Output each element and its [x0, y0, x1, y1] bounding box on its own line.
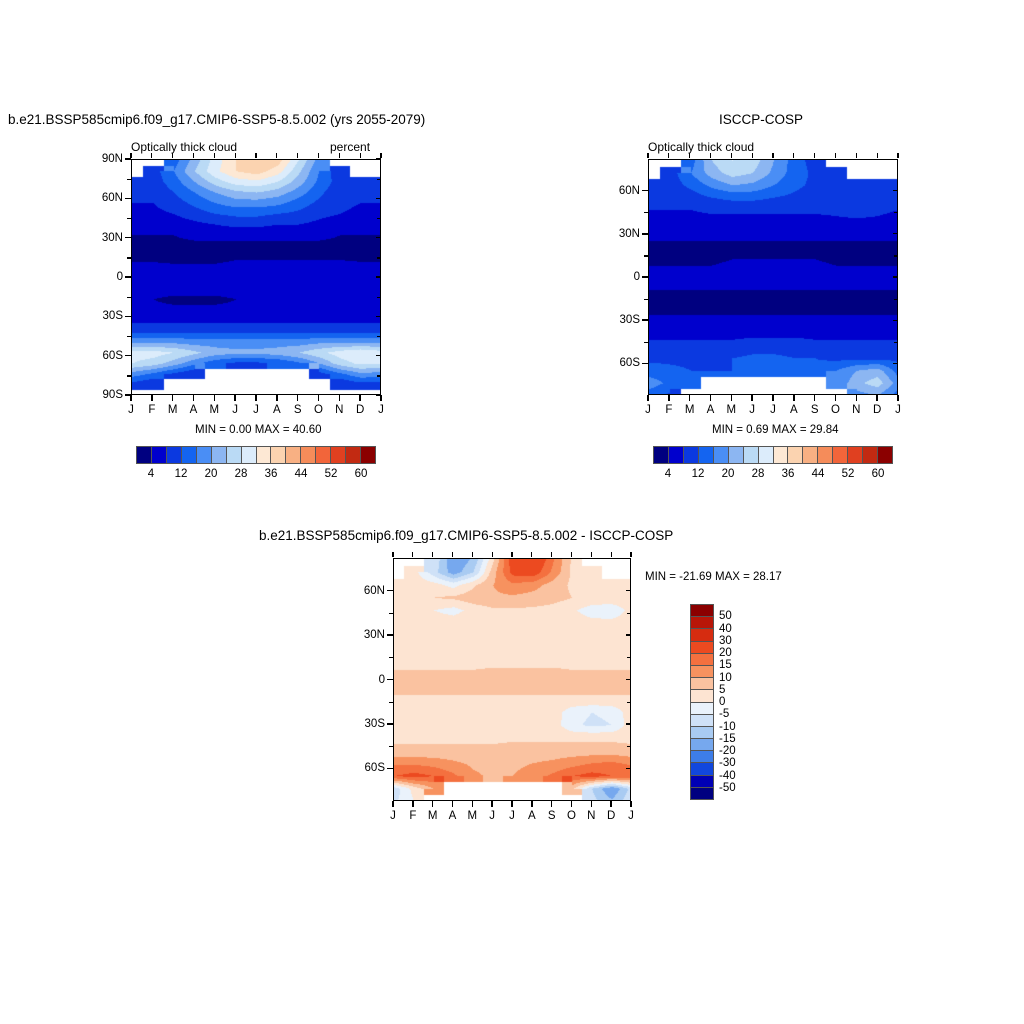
- y-axis-minor-tick: [127, 218, 131, 219]
- colorbar-tick-label: 5: [719, 684, 725, 696]
- y-axis-label: 30N: [85, 232, 123, 244]
- colorbar-swatch: [714, 447, 729, 463]
- x-axis-tick: [380, 395, 381, 401]
- colorbar-tick-label: 44: [295, 468, 308, 480]
- x-axis-tick: [571, 552, 572, 557]
- colorbar-swatch: [654, 447, 669, 463]
- x-axis-tick: [172, 153, 173, 158]
- colorbar-swatch: [691, 678, 713, 690]
- y-axis-tick: [626, 723, 631, 724]
- x-axis-tick: [214, 395, 215, 401]
- y-axis-minor-tick: [644, 255, 648, 256]
- x-axis-label: M: [727, 404, 737, 416]
- x-axis-tick: [511, 801, 512, 807]
- colorbar-swatch: [691, 751, 713, 763]
- y-axis-tick: [387, 768, 393, 769]
- y-axis-minor-tick: [127, 375, 131, 376]
- x-axis-tick: [630, 801, 631, 807]
- x-axis-tick: [610, 801, 611, 807]
- colorbar-swatch: [301, 447, 316, 463]
- y-axis-tick: [387, 590, 393, 591]
- x-axis-label: S: [811, 404, 819, 416]
- colorbar-tick-label: -15: [719, 733, 736, 745]
- x-axis-label: S: [294, 404, 302, 416]
- obs-variable-label: Optically thick cloud: [648, 140, 754, 154]
- x-axis-tick: [731, 395, 732, 401]
- x-axis-tick: [193, 395, 194, 401]
- colorbar-tick-label: -40: [719, 770, 736, 782]
- y-axis-minor-tick: [627, 702, 631, 703]
- y-axis-label: 30S: [347, 718, 385, 730]
- x-axis-tick: [876, 395, 877, 401]
- colorbar-swatch: [691, 788, 713, 799]
- x-axis-tick: [897, 153, 898, 158]
- y-axis-tick: [642, 233, 648, 234]
- x-axis-tick: [297, 153, 298, 158]
- x-axis-tick: [360, 153, 361, 158]
- x-axis-tick: [531, 552, 532, 557]
- y-axis-tick: [642, 190, 648, 191]
- colorbar-swatch: [316, 447, 331, 463]
- y-axis-tick: [125, 158, 131, 159]
- x-axis-tick: [689, 395, 690, 401]
- colorbar-tick-label: 28: [235, 468, 248, 480]
- y-axis-minor-tick: [389, 746, 393, 747]
- model-colorbar[interactable]: [136, 446, 376, 464]
- colorbar-swatch: [788, 447, 803, 463]
- colorbar-tick-label: 4: [665, 468, 671, 480]
- x-axis-tick: [668, 153, 669, 158]
- x-axis-tick: [591, 552, 592, 557]
- x-axis-tick: [531, 801, 532, 807]
- colorbar-tick-label: 60: [355, 468, 368, 480]
- colorbar-tick-label: 30: [719, 635, 732, 647]
- y-axis-tick: [626, 768, 631, 769]
- colorbar-swatch: [691, 617, 713, 629]
- x-axis-tick: [151, 395, 152, 401]
- diff-minmax-label: MIN = -21.69 MAX = 28.17: [645, 571, 782, 583]
- colorbar-swatch: [699, 447, 714, 463]
- y-axis-tick: [893, 320, 898, 321]
- y-axis-minor-tick: [894, 255, 898, 256]
- colorbar-tick-label: 4: [148, 468, 154, 480]
- colorbar-tick-label: -5: [719, 708, 729, 720]
- y-axis-minor-tick: [127, 336, 131, 337]
- y-axis-minor-tick: [644, 299, 648, 300]
- colorbar-swatch: [331, 447, 346, 463]
- y-axis-tick: [626, 590, 631, 591]
- x-axis-tick: [731, 153, 732, 158]
- x-axis-label: M: [428, 810, 438, 822]
- y-axis-tick: [642, 363, 648, 364]
- x-axis-tick: [193, 153, 194, 158]
- y-axis-minor-tick: [894, 212, 898, 213]
- y-axis-minor-tick: [627, 657, 631, 658]
- x-axis-tick: [511, 552, 512, 557]
- x-axis-label: F: [148, 404, 155, 416]
- x-axis-tick: [432, 552, 433, 557]
- x-axis-tick: [551, 552, 552, 557]
- x-axis-label: F: [409, 810, 416, 822]
- x-axis-label: M: [685, 404, 695, 416]
- x-axis-tick: [130, 395, 131, 401]
- x-axis-tick: [856, 153, 857, 158]
- y-axis-minor-tick: [127, 257, 131, 258]
- x-axis-label: M: [468, 810, 478, 822]
- y-axis-tick: [387, 634, 393, 635]
- y-axis-tick: [125, 276, 131, 277]
- y-axis-minor-tick: [389, 657, 393, 658]
- x-axis-tick: [392, 552, 393, 557]
- colorbar-tick-label: 36: [265, 468, 278, 480]
- model-units-label: percent: [330, 140, 370, 154]
- colorbar-tick-label: -50: [719, 782, 736, 794]
- colorbar-tick-label: 52: [842, 468, 855, 480]
- y-axis-tick: [376, 276, 381, 277]
- x-axis-tick: [647, 395, 648, 401]
- y-axis-minor-tick: [377, 336, 381, 337]
- colorbar-tick-label: 40: [719, 623, 732, 635]
- x-axis-tick: [630, 552, 631, 557]
- y-axis-label: 30S: [85, 310, 123, 322]
- x-axis-tick: [432, 801, 433, 807]
- x-axis-tick: [472, 552, 473, 557]
- y-axis-minor-tick: [377, 297, 381, 298]
- y-axis-minor-tick: [894, 299, 898, 300]
- x-axis-label: J: [770, 404, 776, 416]
- y-axis-label: 90N: [85, 153, 123, 165]
- x-axis-tick: [255, 153, 256, 158]
- x-axis-label: J: [645, 404, 651, 416]
- x-axis-tick: [835, 153, 836, 158]
- obs-plot-canvas: [649, 160, 898, 395]
- x-axis-label: D: [607, 810, 615, 822]
- x-axis-tick: [877, 153, 878, 158]
- x-axis-label: J: [390, 810, 396, 822]
- x-axis-tick: [214, 153, 215, 158]
- y-axis-tick: [893, 276, 898, 277]
- colorbar-tick-label: 36: [782, 468, 795, 480]
- x-axis-label: J: [628, 810, 634, 822]
- colorbar-swatch: [691, 605, 713, 617]
- y-axis-tick: [893, 233, 898, 234]
- y-axis-label: 60S: [347, 762, 385, 774]
- colorbar-swatch: [691, 690, 713, 702]
- x-axis-tick: [814, 395, 815, 401]
- x-axis-tick: [772, 395, 773, 401]
- x-axis-tick: [318, 395, 319, 401]
- x-axis-tick: [814, 153, 815, 158]
- y-axis-tick: [125, 355, 131, 356]
- x-axis-label: A: [528, 810, 536, 822]
- model-minmax-label: MIN = 0.00 MAX = 40.60: [195, 424, 322, 436]
- x-axis-label: O: [314, 404, 323, 416]
- colorbar-tick-label: 20: [722, 468, 735, 480]
- colorbar-swatch: [729, 447, 744, 463]
- y-axis-tick: [642, 319, 648, 320]
- colorbar-tick-label: 20: [205, 468, 218, 480]
- y-axis-label: 30N: [347, 629, 385, 641]
- colorbar-tick-label: 28: [752, 468, 765, 480]
- x-axis-tick: [611, 552, 612, 557]
- y-axis-tick: [125, 198, 131, 199]
- x-axis-label: D: [873, 404, 881, 416]
- y-axis-minor-tick: [127, 297, 131, 298]
- y-axis-minor-tick: [377, 179, 381, 180]
- colorbar-tick-label: -20: [719, 745, 736, 757]
- x-axis-label: N: [587, 810, 595, 822]
- x-axis-tick: [835, 395, 836, 401]
- colorbar-tick-label: 10: [719, 672, 732, 684]
- colorbar-tick-label: 20: [719, 647, 732, 659]
- colorbar-swatch: [212, 447, 227, 463]
- colorbar-tick-label: -10: [719, 721, 736, 733]
- y-axis-tick: [387, 679, 393, 680]
- y-axis-minor-tick: [389, 702, 393, 703]
- obs-colorbar[interactable]: [653, 446, 893, 464]
- colorbar-swatch: [182, 447, 197, 463]
- y-axis-label: 60N: [85, 192, 123, 204]
- colorbar-swatch: [863, 447, 878, 463]
- x-axis-label: O: [567, 810, 576, 822]
- y-axis-tick: [387, 723, 393, 724]
- x-axis-label: S: [548, 810, 556, 822]
- colorbar-tick-label: 15: [719, 659, 732, 671]
- x-axis-tick: [668, 395, 669, 401]
- x-axis-tick: [856, 395, 857, 401]
- colorbar-swatch: [848, 447, 863, 463]
- x-axis-tick: [359, 395, 360, 401]
- x-axis-tick: [571, 801, 572, 807]
- y-axis-tick: [893, 190, 898, 191]
- colorbar-swatch: [774, 447, 789, 463]
- y-axis-minor-tick: [894, 342, 898, 343]
- x-axis-label: J: [128, 404, 134, 416]
- colorbar-swatch: [818, 447, 833, 463]
- x-axis-label: J: [509, 810, 515, 822]
- colorbar-swatch: [833, 447, 848, 463]
- x-axis-tick: [130, 153, 131, 158]
- x-axis-tick: [297, 395, 298, 401]
- colorbar-swatch: [744, 447, 759, 463]
- y-axis-tick: [125, 316, 131, 317]
- colorbar-swatch: [271, 447, 286, 463]
- colorbar-swatch: [691, 727, 713, 739]
- y-axis-label: 30N: [602, 228, 640, 240]
- x-axis-label: N: [852, 404, 860, 416]
- y-axis-label: 60N: [602, 185, 640, 197]
- colorbar-swatch: [167, 447, 182, 463]
- y-axis-tick: [125, 237, 131, 238]
- x-axis-tick: [380, 153, 381, 158]
- diff-panel-title: b.e21.BSSP585cmip6.f09_g17.CMIP6-SSP5-8.…: [259, 528, 673, 543]
- colorbar-swatch: [137, 447, 152, 463]
- colorbar-swatch: [669, 447, 684, 463]
- colorbar-swatch: [684, 447, 699, 463]
- x-axis-tick: [151, 153, 152, 158]
- colorbar-swatch: [691, 763, 713, 775]
- x-axis-tick: [235, 153, 236, 158]
- y-axis-minor-tick: [377, 257, 381, 258]
- colorbar-swatch: [691, 715, 713, 727]
- x-axis-tick: [452, 801, 453, 807]
- colorbar-swatch: [691, 654, 713, 666]
- x-axis-label: N: [335, 404, 343, 416]
- colorbar-swatch: [803, 447, 818, 463]
- x-axis-tick: [689, 153, 690, 158]
- x-axis-label: J: [749, 404, 755, 416]
- colorbar-swatch: [361, 447, 375, 463]
- colorbar-swatch: [286, 447, 301, 463]
- y-axis-tick: [376, 158, 381, 159]
- y-axis-tick: [642, 276, 648, 277]
- y-axis-minor-tick: [377, 375, 381, 376]
- model-panel-title: b.e21.BSSP585cmip6.f09_g17.CMIP6-SSP5-8.…: [8, 112, 425, 127]
- colorbar-swatch: [691, 703, 713, 715]
- x-axis-label: O: [831, 404, 840, 416]
- x-axis-tick: [591, 801, 592, 807]
- x-axis-tick: [710, 153, 711, 158]
- obs-contour-plot[interactable]: [648, 159, 898, 395]
- y-axis-tick: [626, 679, 631, 680]
- y-axis-label: 60S: [85, 350, 123, 362]
- x-axis-tick: [472, 801, 473, 807]
- colorbar-swatch: [691, 666, 713, 678]
- model-plot-canvas: [132, 160, 381, 395]
- x-axis-label: J: [489, 810, 495, 822]
- y-axis-minor-tick: [627, 613, 631, 614]
- x-axis-tick: [452, 552, 453, 557]
- y-axis-tick: [376, 355, 381, 356]
- x-axis-tick: [339, 395, 340, 401]
- diff-plot-canvas: [394, 559, 631, 801]
- x-axis-tick: [339, 153, 340, 158]
- colorbar-swatch: [691, 642, 713, 654]
- colorbar-tick-label: 50: [719, 610, 732, 622]
- x-axis-label: M: [210, 404, 220, 416]
- x-axis-tick: [234, 395, 235, 401]
- y-axis-tick: [893, 363, 898, 364]
- x-axis-label: A: [790, 404, 798, 416]
- y-axis-minor-tick: [389, 613, 393, 614]
- colorbar-swatch: [227, 447, 242, 463]
- x-axis-tick: [710, 395, 711, 401]
- y-axis-label: 60S: [602, 357, 640, 369]
- y-axis-minor-tick: [627, 746, 631, 747]
- x-axis-tick: [897, 395, 898, 401]
- y-axis-tick: [376, 198, 381, 199]
- y-axis-tick: [376, 237, 381, 238]
- y-axis-minor-tick: [377, 218, 381, 219]
- x-axis-label: M: [168, 404, 178, 416]
- y-axis-label: 30S: [602, 314, 640, 326]
- colorbar-tick-label: 12: [692, 468, 705, 480]
- colorbar-swatch: [346, 447, 361, 463]
- x-axis-label: D: [356, 404, 364, 416]
- colorbar-tick-label: 44: [812, 468, 825, 480]
- x-axis-tick: [772, 153, 773, 158]
- colorbar-swatch: [691, 739, 713, 751]
- x-axis-tick: [392, 801, 393, 807]
- diff-contour-plot[interactable]: [393, 558, 631, 801]
- x-axis-label: A: [449, 810, 457, 822]
- x-axis-label: F: [665, 404, 672, 416]
- colorbar-tick-label: 12: [175, 468, 188, 480]
- y-axis-minor-tick: [127, 179, 131, 180]
- colorbar-tick-label: 60: [872, 468, 885, 480]
- x-axis-tick: [491, 801, 492, 807]
- colorbar-tick-label: -30: [719, 757, 736, 769]
- colorbar-swatch: [878, 447, 892, 463]
- x-axis-label: J: [253, 404, 259, 416]
- x-axis-tick: [647, 153, 648, 158]
- y-axis-label: 90S: [85, 389, 123, 401]
- x-axis-tick: [276, 395, 277, 401]
- colorbar-swatch: [691, 629, 713, 641]
- colorbar-swatch: [691, 776, 713, 788]
- x-axis-tick: [276, 153, 277, 158]
- obs-panel-title: ISCCP-COSP: [719, 112, 803, 127]
- x-axis-label: A: [707, 404, 715, 416]
- x-axis-tick: [255, 395, 256, 401]
- colorbar-swatch: [242, 447, 257, 463]
- colorbar-swatch: [257, 447, 272, 463]
- y-axis-label: 0: [85, 271, 123, 283]
- y-axis-minor-tick: [644, 212, 648, 213]
- y-axis-tick: [626, 634, 631, 635]
- x-axis-tick: [793, 153, 794, 158]
- obs-minmax-label: MIN = 0.69 MAX = 29.84: [712, 424, 839, 436]
- x-axis-label: J: [895, 404, 901, 416]
- x-axis-tick: [751, 395, 752, 401]
- x-axis-tick: [551, 801, 552, 807]
- x-axis-tick: [318, 153, 319, 158]
- y-axis-label: 0: [347, 674, 385, 686]
- x-axis-tick: [492, 552, 493, 557]
- y-axis-tick: [376, 316, 381, 317]
- model-variable-label: Optically thick cloud: [131, 140, 237, 154]
- y-axis-minor-tick: [644, 342, 648, 343]
- model-contour-plot[interactable]: [131, 159, 381, 395]
- colorbar-tick-label: 52: [325, 468, 338, 480]
- x-axis-label: A: [190, 404, 198, 416]
- colorbar-tick-label: 0: [719, 696, 725, 708]
- diff-colorbar[interactable]: [690, 604, 714, 800]
- colorbar-swatch: [197, 447, 212, 463]
- colorbar-swatch: [152, 447, 167, 463]
- x-axis-tick: [412, 801, 413, 807]
- x-axis-tick: [793, 395, 794, 401]
- x-axis-tick: [172, 395, 173, 401]
- x-axis-tick: [752, 153, 753, 158]
- colorbar-swatch: [759, 447, 774, 463]
- x-axis-tick: [412, 552, 413, 557]
- x-axis-label: A: [273, 404, 281, 416]
- y-axis-label: 60N: [347, 585, 385, 597]
- x-axis-label: J: [378, 404, 384, 416]
- y-axis-label: 0: [602, 271, 640, 283]
- x-axis-label: J: [232, 404, 238, 416]
